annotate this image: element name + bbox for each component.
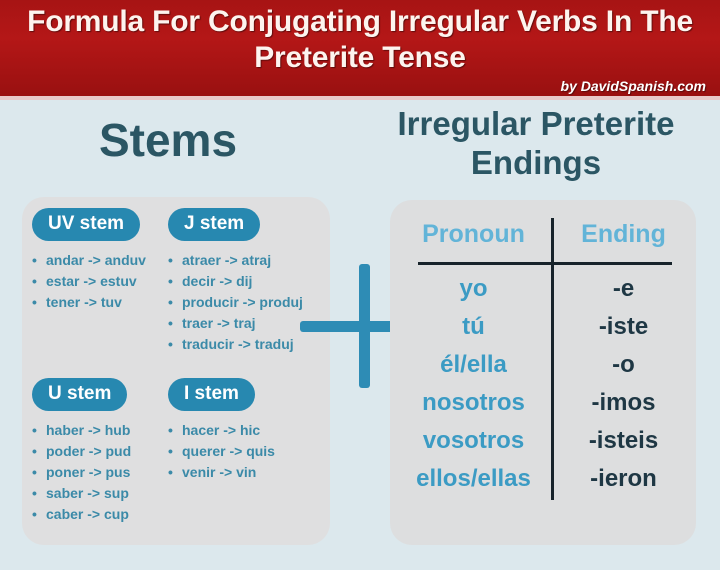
endings-heading: Irregular Preterite Endings xyxy=(352,104,720,182)
header-divider xyxy=(418,262,672,265)
table-row: tú -iste xyxy=(390,308,696,346)
list-item: traducir -> traduj xyxy=(168,334,303,355)
plus-horizontal-bar xyxy=(300,321,396,332)
stem-list-i: hacer -> hic querer -> quis venir -> vin xyxy=(168,420,275,483)
stem-group-i: I stem hacer -> hic querer -> quis venir… xyxy=(168,378,275,483)
stem-group-uv: UV stem andar -> anduv estar -> estuv te… xyxy=(32,208,146,313)
column-header-pronoun: Pronoun xyxy=(396,220,551,249)
cell-pronoun: vosotros xyxy=(396,422,551,460)
stem-list-u: haber -> hub poder -> pud poner -> pus s… xyxy=(32,420,131,525)
list-item: tener -> tuv xyxy=(32,292,146,313)
endings-table: Pronoun Ending yo -e tú -iste él/ella -o… xyxy=(390,218,696,508)
page-title: Formula For Conjugating Irregular Verbs … xyxy=(0,4,720,76)
table-row: nosotros -imos xyxy=(390,384,696,422)
cell-ending: -e xyxy=(556,270,691,308)
list-item: atraer -> atraj xyxy=(168,250,303,271)
title-banner: Formula For Conjugating Irregular Verbs … xyxy=(0,0,720,100)
plus-vertical-bar xyxy=(359,264,370,388)
list-item: caber -> cup xyxy=(32,504,131,525)
cell-ending: -imos xyxy=(556,384,691,422)
list-item: poder -> pud xyxy=(32,441,131,462)
cell-pronoun: yo xyxy=(396,270,551,308)
stem-group-j: J stem atraer -> atraj decir -> dij prod… xyxy=(168,208,303,355)
list-item: estar -> estuv xyxy=(32,271,146,292)
list-item: andar -> anduv xyxy=(32,250,146,271)
stem-badge-uv: UV stem xyxy=(32,208,140,241)
list-item: haber -> hub xyxy=(32,420,131,441)
list-item: poner -> pus xyxy=(32,462,131,483)
cell-pronoun: tú xyxy=(396,308,551,346)
cell-pronoun: ellos/ellas xyxy=(396,460,551,498)
cell-ending: -ieron xyxy=(556,460,691,498)
byline: by DavidSpanish.com xyxy=(561,78,706,94)
list-item: querer -> quis xyxy=(168,441,275,462)
cell-ending: -iste xyxy=(556,308,691,346)
stem-badge-i: I stem xyxy=(168,378,255,411)
table-header-row: Pronoun Ending xyxy=(390,218,696,260)
list-item: hacer -> hic xyxy=(168,420,275,441)
stem-list-j: atraer -> atraj decir -> dij producir ->… xyxy=(168,250,303,355)
stem-group-u: U stem haber -> hub poder -> pud poner -… xyxy=(32,378,131,525)
stem-list-uv: andar -> anduv estar -> estuv tener -> t… xyxy=(32,250,146,313)
cell-ending: -isteis xyxy=(556,422,691,460)
table-body: yo -e tú -iste él/ella -o nosotros -imos… xyxy=(390,270,696,498)
list-item: producir -> produj xyxy=(168,292,303,313)
table-row: ellos/ellas -ieron xyxy=(390,460,696,498)
table-row: él/ella -o xyxy=(390,346,696,384)
cell-pronoun: él/ella xyxy=(396,346,551,384)
cell-ending: -o xyxy=(556,346,691,384)
stems-heading: Stems xyxy=(18,114,318,166)
table-row: vosotros -isteis xyxy=(390,422,696,460)
list-item: saber -> sup xyxy=(32,483,131,504)
table-row: yo -e xyxy=(390,270,696,308)
list-item: venir -> vin xyxy=(168,462,275,483)
list-item: decir -> dij xyxy=(168,271,303,292)
cell-pronoun: nosotros xyxy=(396,384,551,422)
list-item: traer -> traj xyxy=(168,313,303,334)
plus-icon xyxy=(300,264,396,388)
column-header-ending: Ending xyxy=(556,220,691,249)
stem-badge-j: J stem xyxy=(168,208,260,241)
stem-badge-u: U stem xyxy=(32,378,127,411)
